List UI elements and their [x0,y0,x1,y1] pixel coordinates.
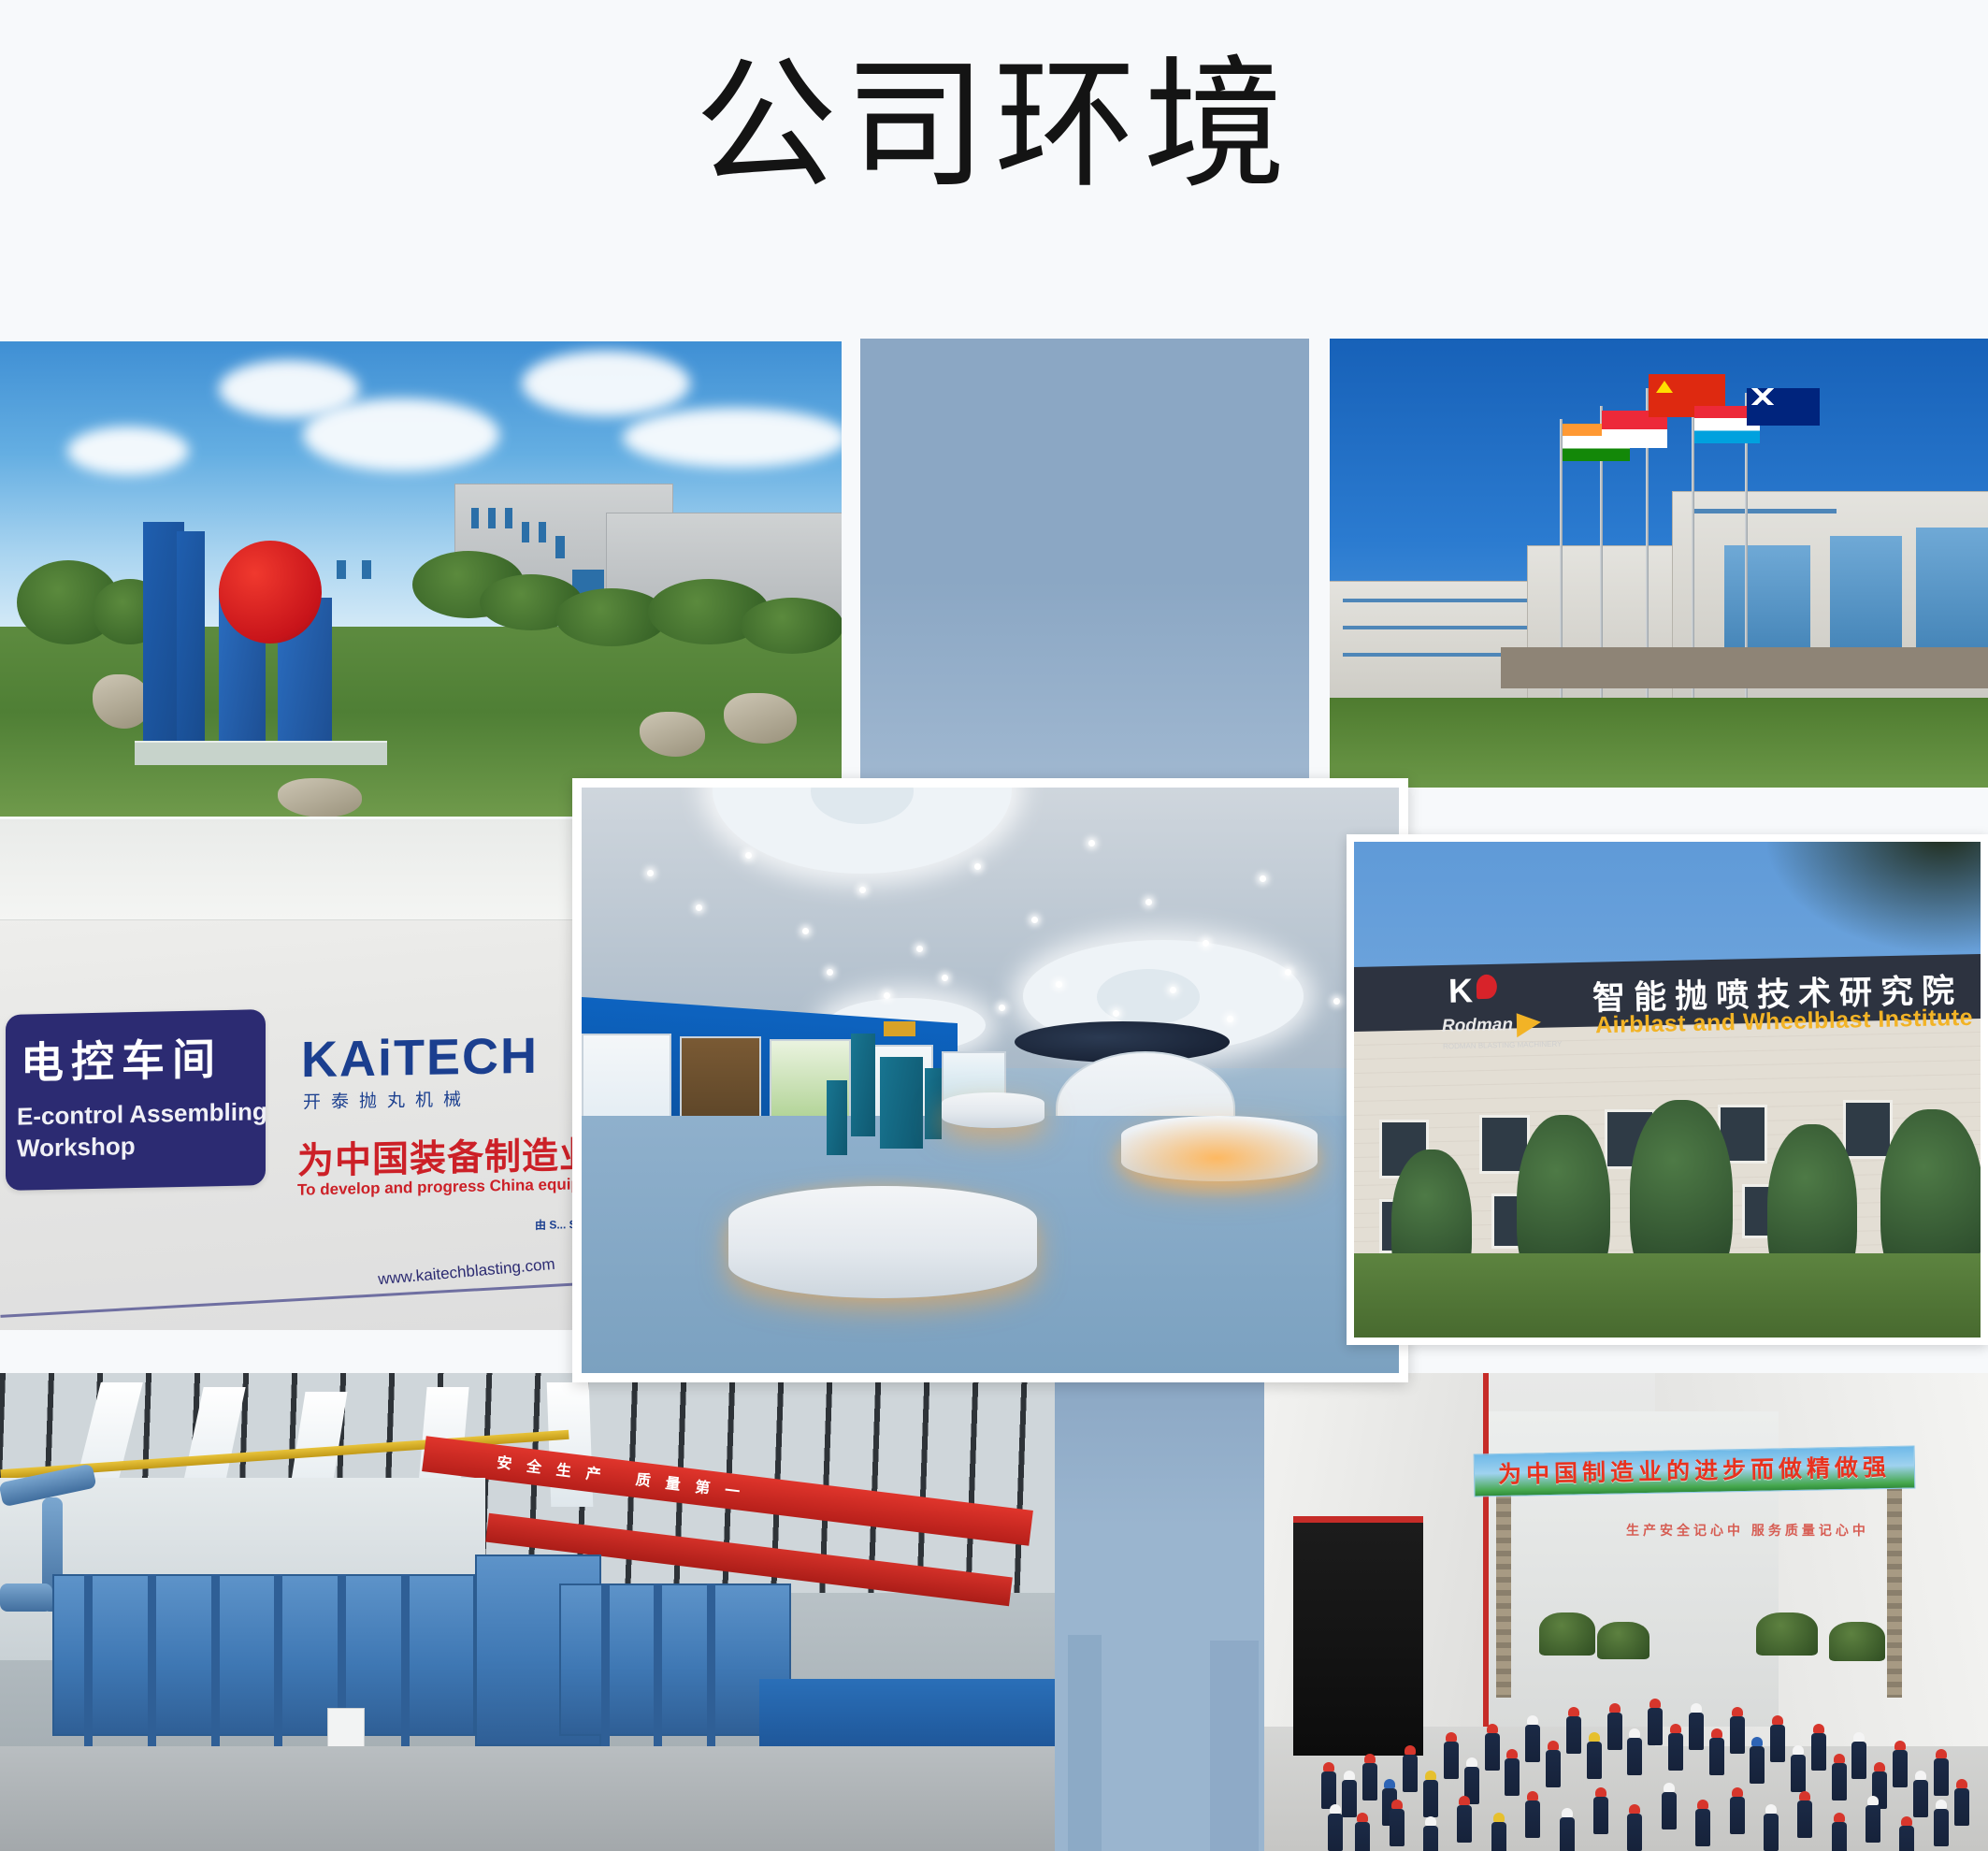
factory-floor [0,1746,1055,1851]
sculpture-red-disc [219,541,322,644]
photo-card-product-showroom [572,778,1408,1382]
machine-exhibit-hopper [827,1080,847,1155]
photo-staff-group: 为中国制造业的进步而做精做强 生产安全记心中 服务质量记心中 [1264,1373,1988,1851]
building-window [522,522,529,542]
company-environment-page: 公司环境 [0,0,1988,1851]
institute-logo-dot [1476,974,1497,998]
flag-australia-union-jack [1747,388,1779,405]
blue-duct [0,1583,52,1612]
page-title: 公司环境 [0,54,1988,196]
workshop-name-plate: 电控车间 E-control Assembling Workshop [6,1009,266,1191]
kaitech-logo-text: KAiTECH [301,1028,539,1088]
display-podium-front [728,1186,1037,1298]
workshop-plate-cn: 电控车间 [21,1025,223,1092]
wall-website-url: www.kaitechblasting.com [377,1255,555,1289]
kaitech-logo: KAiTECH [301,1027,539,1089]
building-window [471,508,479,528]
building-window [362,560,371,579]
podium-glow [1104,1116,1329,1200]
flag-australia [1747,388,1820,426]
machine-exhibit-duct [925,1068,942,1139]
building-window-row [1343,599,1527,602]
shot-blasting-machine-second [559,1583,791,1737]
staff-crowd [1307,1641,1988,1851]
ceiling-light-ring-hole [1097,969,1200,1025]
photo-blasting-machine-workshop: 安全生产 质量第一 [0,1373,1055,1851]
tree-shape [741,598,842,654]
tree-canopy-overlay [1767,842,1981,951]
institute-arrow-icon [1517,1013,1542,1038]
building-window [337,560,346,579]
machine-exhibit-body [880,1057,923,1149]
page-header: 公司环境 [0,0,1988,339]
institute-brand-name: Rodman [1442,1015,1513,1037]
rock-shape [278,778,362,817]
shot-blasting-machine-main [52,1574,474,1737]
photo-product-showroom [582,788,1399,1373]
photo-airblast-wheelblast-institute: K Rodman RODMAN BLASTING MACHINERY 智能抛喷技… [1354,842,1981,1338]
cloud-shape [623,408,842,468]
photo-kaitech-workshop-wall: 电控车间 E-control Assembling Workshop KAiTE… [0,819,578,1330]
lawn-ground [1330,698,1988,788]
blue-filler-panel-top [860,339,1309,778]
kaitech-brand-cn: 开泰抛丸机械 [303,1085,471,1113]
gate-banner: 为中国制造业的进步而做精做强 [1474,1445,1916,1497]
building-window [555,536,565,558]
blue-filler-panel-bottom [1055,1373,1264,1851]
ceiling-band [0,819,578,920]
workshop-plate-en-line1: E-control Assembling [17,1097,267,1132]
photo-headquarters-flags [1330,339,1988,788]
building-window [488,508,496,528]
perimeter-wall [1501,647,1988,688]
workshop-plate-en-line2: Workshop [17,1132,136,1164]
sculpture-base [135,741,387,765]
wall-decorative-stripe [0,1281,578,1318]
machine-exhibit-top [884,1021,915,1036]
building-window-row [1343,626,1527,629]
machine-exhibit-column [851,1034,875,1136]
sculpture-left-block [177,531,205,750]
lawn-ground [1354,1253,1981,1338]
building-window [539,522,546,542]
blue-safety-fence [759,1679,1055,1756]
display-podium-mid [942,1092,1044,1128]
cloud-shape [522,351,690,416]
building-window-row [1343,653,1527,657]
gate-banner-text: 为中国制造业的进步而做精做强 [1475,1448,1915,1490]
rock-shape [93,674,151,729]
flag-china-star [1656,381,1673,393]
photo-card-institute: K Rodman RODMAN BLASTING MACHINERY 智能抛喷技… [1347,834,1988,1345]
institute-logo-mark: K [1448,970,1518,1015]
building-window-row [1692,509,1837,513]
institute-logo-letter: K [1448,971,1473,1011]
institute-window [1843,1100,1894,1160]
wall-slogan-text: 生产安全记心中 服务质量记心中 [1626,1521,1869,1540]
building-window [505,508,512,528]
photo-company-entrance-sign [0,341,842,817]
cloud-shape [303,398,499,471]
